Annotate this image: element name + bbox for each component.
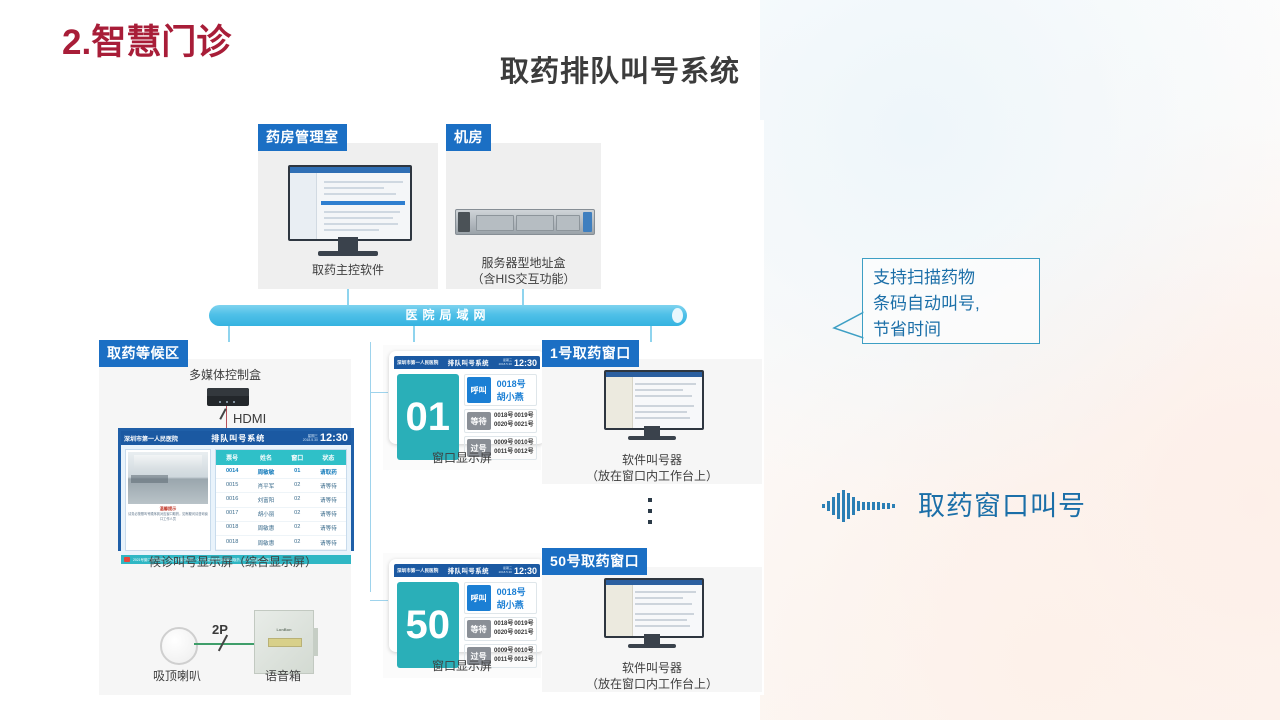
wd50-window-number: 50 [397,582,459,668]
sw-monitor-neck-1 [644,426,660,436]
cell-status: 请取药 [311,465,346,478]
wd1-system-title: 排队叫号系统 [440,358,496,367]
main-software-monitor [288,165,412,241]
wd50-wait-3: 0021号 [514,629,534,638]
wd50-call-row: 呼叫 0018号胡小燕 [464,582,537,614]
tag-window-50: 50号取药窗口 [542,548,647,575]
wd1-wait-0: 0018号 [494,412,514,421]
wd50-header: 深圳市第一人民医院 排队叫号系统 星期三 2018.5.30 12:30 [394,564,540,577]
caption-software-caller-50a: 软件叫号器 [572,660,732,676]
monitor-base [318,251,378,256]
wd1-call-label: 呼叫 [467,377,491,403]
tag-pharmacy-office: 药房管理室 [258,124,347,151]
connector-to-window1-display [370,392,388,393]
wd1-hospital: 深圳市第一人民医院 [394,360,440,366]
col-window: 窗口 [284,450,311,465]
tag-waiting-area: 取药等候区 [99,340,188,367]
lan-label: 医院局域网 [209,305,687,326]
cell-status: 请等待 [311,536,346,549]
caption-voice-box: 语音箱 [256,668,310,684]
wd1-header: 深圳市第一人民医院 排队叫号系统 星期三 2018.5.30 12:30 [394,356,540,369]
caption-main-software: 取药主控软件 [288,262,408,278]
cell-status: 请等待 [311,522,346,535]
cell-window: 02 [284,536,311,549]
caption-ceiling-speaker: 吸顶喇叭 [150,668,204,684]
wd1-wait-row: 等待 0018号 0019号 0020号 0021号 [464,409,537,433]
wd50-call-value: 0018号胡小燕 [494,585,534,611]
background-right-gradient [760,0,1280,720]
wd50-wait-1: 0019号 [514,620,534,629]
cell-ticket: 0014 [216,465,249,478]
wd50-datetime: 星期三 2018.5.30 12:30 [496,566,540,576]
caption-software-caller-50b: （放在窗口内工作台上） [572,676,732,692]
connector-pharmacy-to-lan [347,289,349,305]
wd1-wait-values: 0018号 0019号 0020号 0021号 [494,412,534,430]
wd50-passed-0: 0009号 [494,647,514,656]
multimedia-control-box [207,388,249,406]
connector-to-window50-display [370,600,388,601]
wd50-passed-1: 0010号 [514,647,534,656]
wd1-clock: 12:30 [514,358,537,368]
window-display-screen-50: 深圳市第一人民医院 排队叫号系统 星期三 2018.5.30 12:30 50 … [389,559,545,652]
sound-label: 取药窗口叫号 [918,484,1086,523]
window-display-screen-1: 深圳市第一人民医院 排队叫号系统 星期三 2018.5.30 12:30 01 … [389,351,545,444]
cell-name: 周敏惠 [248,522,283,535]
table-row: 0016 刘富阳 02 请等待 [216,493,346,507]
callout-line-3: 节省时间 [873,317,1029,343]
led-datetime: 星期三 2018.5.30 12:30 [283,432,351,444]
caption-software-caller-1a: 软件叫号器 [572,452,732,468]
wd1-call-row: 呼叫 0018号胡小燕 [464,374,537,406]
queue-table: 票号 姓名 窗口 状态 0014 周敏敏 01 请取药 0015 肖平军 02 … [215,449,347,551]
caption-window-display-50: 窗口显示屏 [389,658,535,674]
table-row: 0018 周敏惠 02 请等待 [216,522,346,536]
caption-server-line1: 服务器型地址盒 [446,255,601,271]
col-name: 姓名 [248,450,283,465]
lan-end-cap [672,308,683,323]
comprehensive-led-display: 深圳市第一人民医院 排队叫号系统 星期三 2018.5.30 12:30 温馨提… [118,428,354,551]
cell-ticket: 0018 [216,536,249,549]
connector-server-to-lan [522,289,524,305]
cell-status: 请等待 [311,479,346,492]
wd1-body: 01 呼叫 0018号胡小燕 等待 0018号 0019号 0020号 0021… [394,369,540,463]
wd1-wait-label: 等待 [467,412,491,430]
led-date: 2018.5.30 [303,438,318,442]
queue-table-header: 票号 姓名 窗口 状态 [216,450,346,465]
cell-ticket: 0015 [216,479,249,492]
cell-window: 02 [284,522,311,535]
caption-multimedia-box: 多媒体控制盒 [165,367,285,383]
led-header: 深圳市第一人民医院 排队叫号系统 星期三 2018.5.30 12:30 [121,431,351,445]
wd50-body: 50 呼叫 0018号胡小燕 等待 0018号 0019号 0020号 0021… [394,577,540,671]
wd50-system-title: 排队叫号系统 [440,566,496,575]
cell-ticket: 0018 [216,522,249,535]
wd1-rows: 呼叫 0018号胡小燕 等待 0018号 0019号 0020号 0021号 过… [464,374,537,460]
wd50-wait-2: 0020号 [494,629,514,638]
connector-lan-to-window1-pc [650,326,652,342]
wd50-wait-0: 0018号 [494,620,514,629]
wd50-hospital: 深圳市第一人民医院 [394,568,440,574]
wd1-datetime: 星期三 2018.5.30 12:30 [496,358,540,368]
table-row: 0015 肖平军 02 请等待 [216,479,346,493]
cell-name: 胡小丽 [248,508,283,521]
cell-window: 01 [284,465,311,478]
ellipsis-more-windows [646,498,654,531]
col-status: 状态 [311,450,346,465]
wd1-window-number: 01 [397,374,459,460]
monitor-neck [338,237,358,251]
wd50-rows: 呼叫 0018号胡小燕 等待 0018号 0019号 0020号 0021号 过… [464,582,537,668]
tag-server-room: 机房 [446,124,491,151]
voice-box-plate [268,638,302,647]
photo-notice-text: 请务必按照叫号顺序到对应窗口取药，如有疑问请咨询窗口工作人员 [128,512,208,521]
wd1-wait-2: 0020号 [494,421,514,430]
wd1-wait-1: 0019号 [514,412,534,421]
callout-line-2: 条码自动叫号, [873,291,1029,317]
cell-window: 02 [284,493,311,506]
led-system-title: 排队叫号系统 [193,433,283,444]
cell-name: 肖平军 [248,479,283,492]
cell-ticket: 0016 [216,493,249,506]
tag-window-1: 1号取药窗口 [542,340,639,367]
corridor-photo [128,452,208,504]
wd50-clock: 12:30 [514,566,537,576]
wd1-passed-1: 0010号 [514,439,534,448]
sound-wave-icon [822,488,900,524]
callout-tail-icon [832,310,864,340]
wd50-call-label: 呼叫 [467,585,491,611]
cell-ticket: 0017 [216,508,249,521]
software-caller-monitor-50 [604,578,704,638]
cell-status: 请等待 [311,508,346,521]
callout-box: 支持扫描药物 条码自动叫号, 节省时间 [862,258,1040,344]
table-row: 0018 周敏惠 02 请等待 [216,536,346,550]
connector-lan-to-window1 [413,326,415,342]
software-caller-monitor-1 [604,370,704,430]
led-photo-panel: 温馨提示 请务必按照叫号顺序到对应窗口取药，如有疑问请咨询窗口工作人员 [125,449,211,551]
voice-box-side [313,628,318,655]
cell-name: 周敏惠 [248,536,283,549]
hospital-lan-bar: 医院局域网 [209,305,687,326]
caption-server-line2: （含HIS交互功能） [446,271,601,287]
sw-monitor-base-1 [628,436,676,440]
led-clock: 12:30 [320,432,348,444]
cell-window: 02 [284,479,311,492]
led-body: 温馨提示 请务必按照叫号顺序到对应窗口取药，如有疑问请咨询窗口工作人员 票号 姓… [121,445,351,555]
wd50-date: 2018.5.30 [499,571,512,575]
server-appliance [455,209,595,235]
table-row: 0014 周敏敏 01 请取药 [216,465,346,479]
voice-box: LonBon [254,610,314,674]
wd50-wait-label: 等待 [467,620,491,638]
callout-line-1: 支持扫描药物 [873,265,1029,291]
voice-box-brand: LonBon [276,627,291,632]
wd1-passed-0: 0009号 [494,439,514,448]
wd1-date: 2018.5.30 [499,363,512,367]
cable-2p-label: 2P [212,622,228,637]
sw-monitor-base-50 [628,644,676,648]
wd1-call-value: 0018号胡小燕 [494,377,534,403]
sw-monitor-neck-50 [644,634,660,644]
wd50-wait-row: 等待 0018号 0019号 0020号 0021号 [464,617,537,641]
main-heading: 取药排队叫号系统 [0,48,1240,90]
table-row: 0017 胡小丽 02 请等待 [216,508,346,522]
ceiling-speaker [160,627,198,665]
cell-name: 刘富阳 [248,493,283,506]
cell-window: 02 [284,508,311,521]
hdmi-label: HDMI [233,411,266,426]
vertical-bus-line [370,342,371,592]
led-hospital-name: 深圳市第一人民医院 [121,434,193,443]
wd50-wait-values: 0018号 0019号 0020号 0021号 [494,620,534,638]
caption-window-display-1: 窗口显示屏 [389,450,535,466]
caption-comprehensive-display: 候诊叫号显示屏（综合显示屏） [118,554,348,570]
col-ticket: 票号 [216,450,249,465]
caption-software-caller-1b: （放在窗口内工作台上） [572,468,732,484]
cell-status: 请等待 [311,493,346,506]
speaker-cable [194,643,254,645]
cell-name: 周敏敏 [248,465,283,478]
connector-lan-to-waiting [228,326,230,342]
wd1-wait-3: 0021号 [514,421,534,430]
